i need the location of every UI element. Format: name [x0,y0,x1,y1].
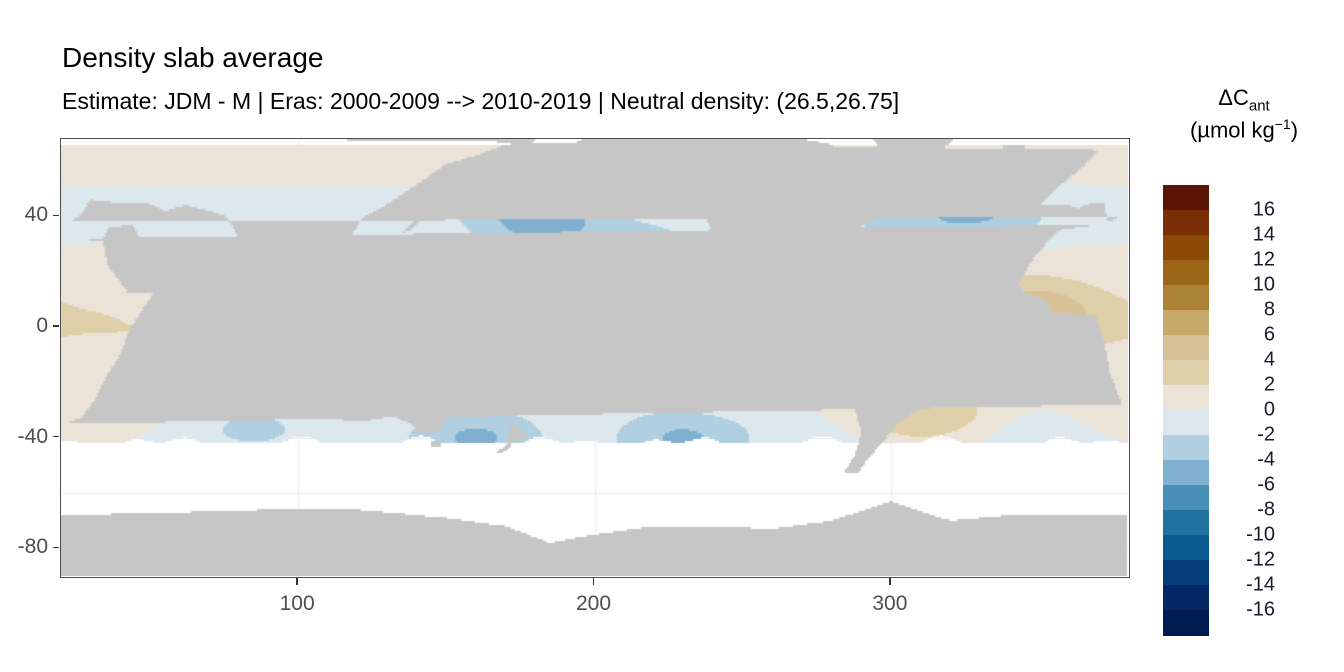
colorbar-tick-label: 16 [1213,199,1275,222]
colorbar-band [1163,360,1209,386]
colorbar-band [1163,435,1209,461]
colorbar-band [1163,285,1209,311]
colorbar-band [1163,185,1209,211]
page-subtitle: Estimate: JDM - M | Eras: 2000-2009 --> … [62,88,899,115]
colorbar-tick-label: -8 [1213,499,1275,522]
colorbar-tick-label: 0 [1213,399,1275,422]
colorbar-band [1163,485,1209,511]
colorbar-tick-label: -16 [1213,599,1275,622]
colorbar-tick-label: -6 [1213,474,1275,497]
colorbar-band [1163,560,1209,586]
colorbar-band [1163,585,1209,611]
y-tick-label: 0 [36,314,48,338]
legend: ΔCant (µmol kg−1) [1152,84,1336,144]
map-panel[interactable] [60,138,1130,578]
x-tick-mark [296,578,298,585]
y-tick-label: -80 [18,535,48,559]
colorbar-band [1163,460,1209,486]
y-tick-label: -40 [18,425,48,449]
colorbar-tick-label: 8 [1213,299,1275,322]
colorbar-tick-label: -4 [1213,449,1275,472]
x-tick-label: 200 [576,592,611,616]
y-tick-mark [53,325,59,327]
colorbar-band [1163,535,1209,561]
colorbar[interactable] [1163,185,1209,635]
colorbar-band [1163,510,1209,536]
y-tick-label: 40 [25,203,48,227]
legend-title: ΔCant (µmol kg−1) [1152,84,1336,144]
colorbar-tick-label: -12 [1213,549,1275,572]
colorbar-band [1163,235,1209,261]
colorbar-tick-label: 2 [1213,374,1275,397]
colorbar-tick-label: 10 [1213,274,1275,297]
legend-title-symbol: ΔC [1218,85,1249,110]
colorbar-band [1163,610,1209,636]
legend-title-subscript: ant [1249,97,1270,114]
legend-units-suffix: ) [1291,117,1298,142]
page-title: Density slab average [62,42,323,74]
colorbar-labels: 1614121086420-2-4-6-8-10-12-14-16 [1213,185,1283,635]
colorbar-tick-label: 4 [1213,349,1275,372]
legend-units-prefix: (µmol kg [1190,117,1275,142]
colorbar-tick-label: 6 [1213,324,1275,347]
x-tick-label: 100 [280,592,315,616]
y-tick-mark [53,215,59,217]
map-raster [61,139,1128,576]
y-tick-mark [53,547,59,549]
legend-title-units: (µmol kg−1) [1152,116,1336,144]
colorbar-band [1163,260,1209,286]
x-tick-mark [889,578,891,585]
colorbar-tick-label: -2 [1213,424,1275,447]
colorbar-tick-label: 14 [1213,224,1275,247]
colorbar-band [1163,410,1209,436]
legend-units-exponent: −1 [1275,116,1291,132]
colorbar-tick-label: 12 [1213,249,1275,272]
colorbar-tick-label: -10 [1213,524,1275,547]
x-tick-label: 300 [872,592,907,616]
colorbar-band [1163,310,1209,336]
y-tick-mark [53,436,59,438]
colorbar-band [1163,385,1209,411]
colorbar-tick-label: -14 [1213,574,1275,597]
colorbar-band [1163,210,1209,236]
colorbar-band [1163,335,1209,361]
x-tick-mark [593,578,595,585]
